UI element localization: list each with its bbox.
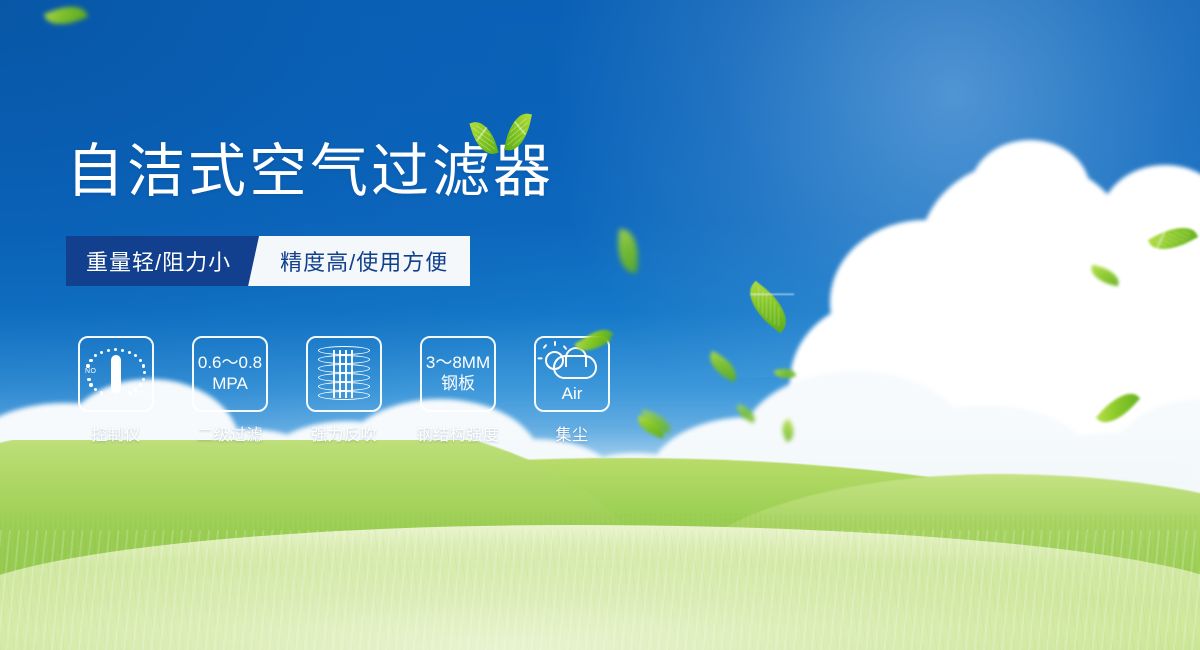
feature-item-dust[interactable]: Air 集尘 xyxy=(534,336,610,445)
feature-label: 钢结构强度 xyxy=(417,421,500,445)
feature-label: 控制仪 xyxy=(91,421,141,445)
feature-item-backblow[interactable]: 强力反吹 xyxy=(306,336,382,445)
leaf-icon xyxy=(469,118,498,158)
sprout-leaves xyxy=(472,108,536,162)
subtitle-bar: 重量轻/阻力小 精度高/使用方便 xyxy=(66,236,470,286)
gauge-off-label: OFF xyxy=(131,391,146,398)
feature-icon-box xyxy=(306,336,382,412)
steel-material: 钢板 xyxy=(441,374,475,395)
subtitle-right: 精度高/使用方便 xyxy=(274,236,470,286)
feature-item-steel[interactable]: 3～8MM 钢板 钢结构强度 xyxy=(420,336,496,445)
hero-banner: 自洁式空气过滤器 重量轻/阻力小 精度高/使用方便 xyxy=(0,0,1200,650)
airflow-stack-icon xyxy=(318,346,370,402)
grass-meadow xyxy=(0,440,1200,650)
meadow-highlight xyxy=(0,500,1200,650)
steel-thickness: 3～8MM xyxy=(426,353,490,374)
feature-item-filtration[interactable]: 0.6～0.8 MPA 二级过滤 xyxy=(192,336,268,445)
feature-icon-box: NO OFF xyxy=(78,336,154,412)
air-label: Air xyxy=(562,384,583,405)
feature-icon-box: 0.6～0.8 MPA xyxy=(192,336,268,412)
feature-label: 二级过滤 xyxy=(197,421,263,445)
feature-list: NO OFF 控制仪 0.6～0.8 MPA 二级过滤 xyxy=(78,336,610,445)
pressure-value: 0.6～0.8 xyxy=(198,353,262,374)
feature-label: 强力反吹 xyxy=(311,421,377,445)
subtitle-divider xyxy=(248,236,274,286)
feature-item-controller[interactable]: NO OFF 控制仪 xyxy=(78,336,154,445)
leaf-icon xyxy=(504,110,532,153)
feature-icon-box: Air xyxy=(534,336,610,412)
feature-label: 集尘 xyxy=(555,421,588,445)
feature-icon-box: 3～8MM 钢板 xyxy=(420,336,496,412)
gauge-icon: NO OFF xyxy=(86,346,146,402)
pressure-unit: MPA xyxy=(212,374,248,395)
subtitle-left: 重量轻/阻力小 xyxy=(66,236,248,286)
gauge-no-label: NO xyxy=(85,368,96,375)
